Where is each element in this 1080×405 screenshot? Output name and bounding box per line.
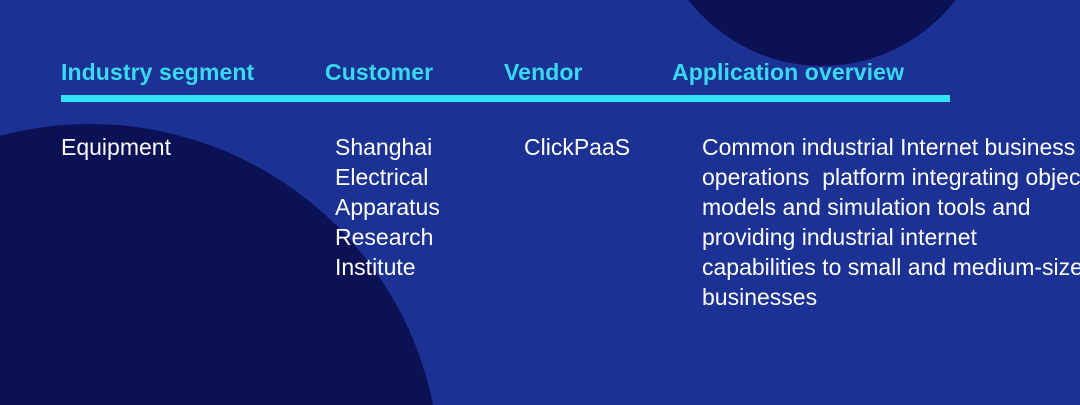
column-header-industry-segment: Industry segment [61, 58, 325, 86]
column-header-vendor: Vendor [504, 58, 672, 86]
column-header-application-overview: Application overview [672, 58, 1057, 86]
cell-industry-segment: Equipment [61, 132, 335, 162]
column-header-customer: Customer [325, 58, 504, 86]
cell-vendor: ClickPaaS [524, 132, 702, 162]
table-header-row: Industry segment Customer Vendor Applica… [61, 58, 1069, 86]
cell-customer: Shanghai Electrical Apparatus Research I… [335, 132, 524, 282]
table-row: Equipment Shanghai Electrical Apparatus … [61, 132, 1069, 312]
cell-application-overview: Common industrial Internet business oper… [702, 132, 1080, 312]
slide-canvas: Industry segment Customer Vendor Applica… [0, 0, 1080, 405]
header-underline-rule [61, 95, 950, 102]
comparison-table: Industry segment Customer Vendor Applica… [0, 0, 1080, 405]
